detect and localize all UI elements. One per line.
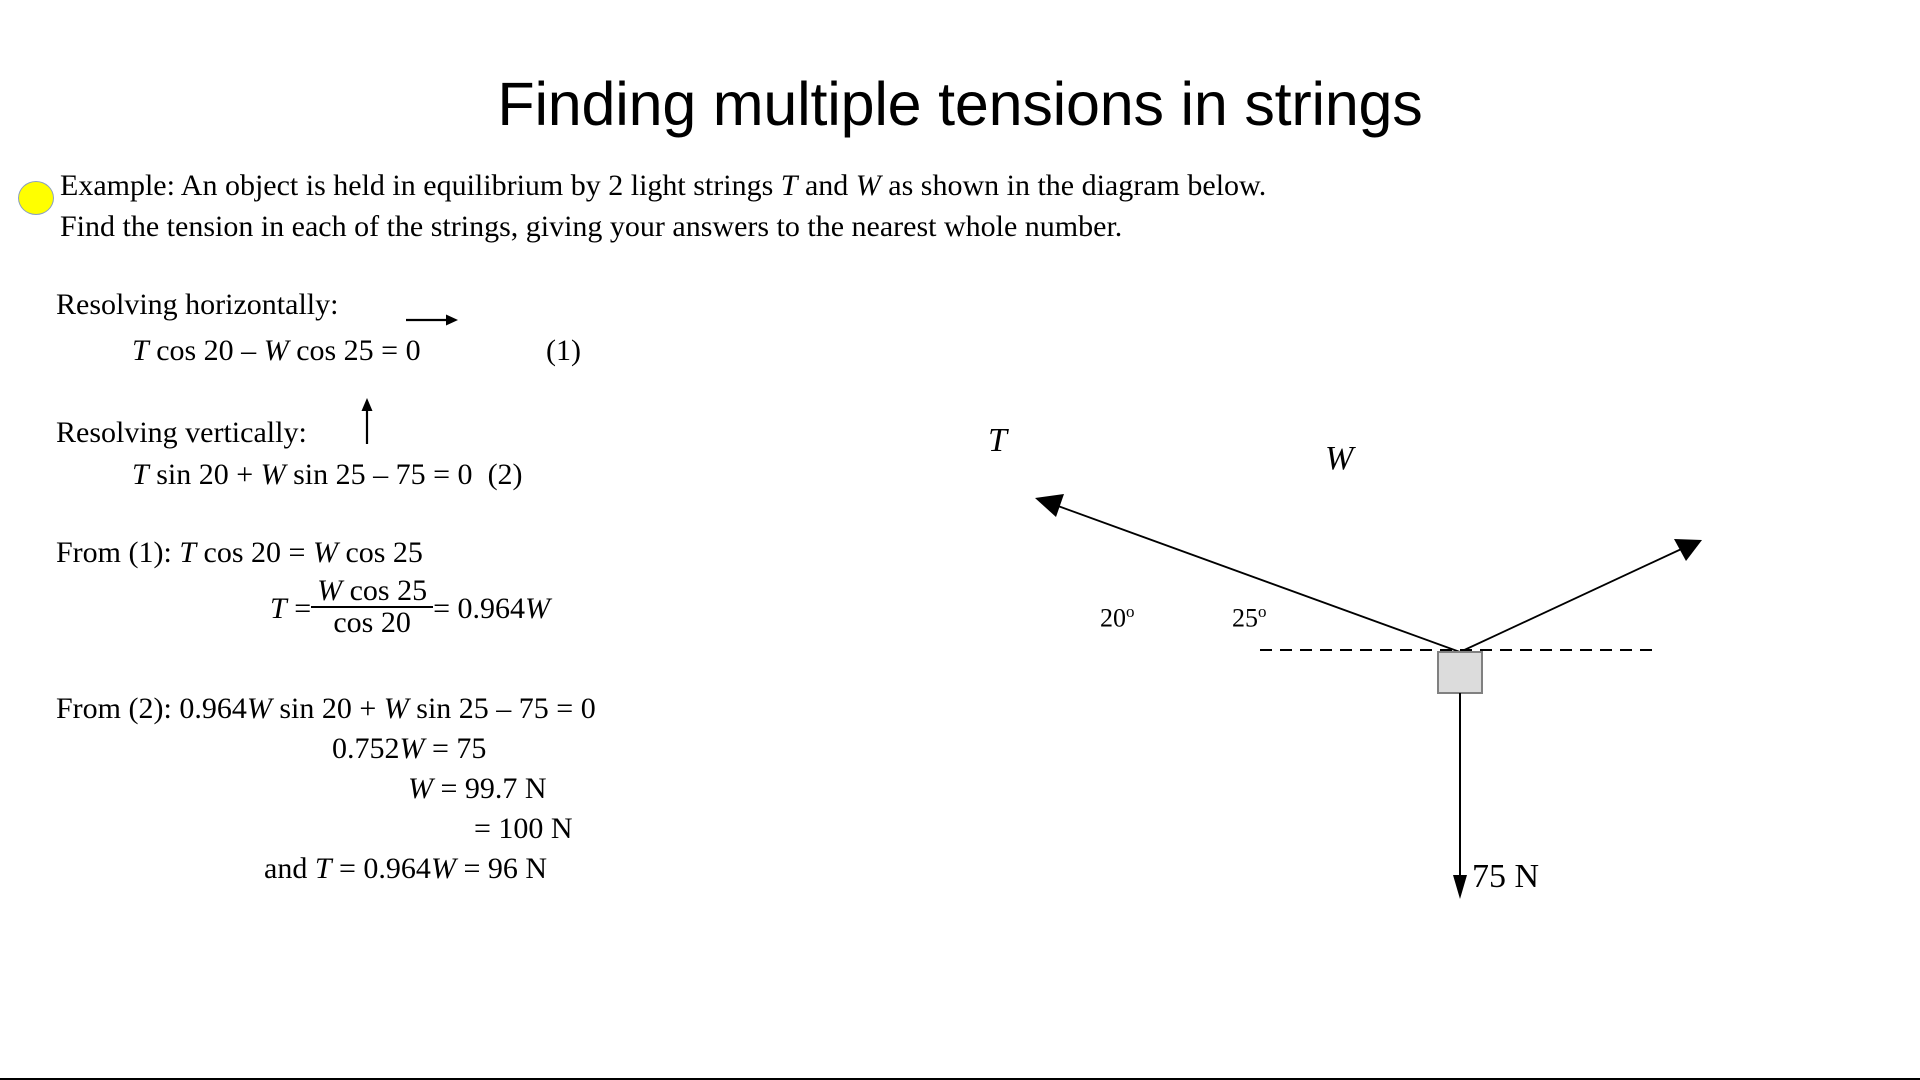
yellow-circle-bullet-icon: [18, 181, 54, 215]
from2-var-W1: W: [247, 692, 272, 725]
diagram-label-W: W: [1325, 440, 1353, 478]
bullet-text-part-3: as shown in the diagram below.: [881, 169, 1266, 202]
bullet-paragraph-text: Example: An object is held in equilibriu…: [60, 166, 1860, 248]
step4-var-T: T: [315, 852, 332, 885]
tension-T-arrowhead: [1035, 494, 1064, 517]
equation-2: T sin 20 + W sin 25 – 75 = 0 (2): [132, 460, 523, 490]
angle-label-left: 20o: [1100, 602, 1135, 634]
diagram-label-T: T: [988, 422, 1007, 460]
from1-end: cos 25: [338, 536, 423, 569]
from-equation-2-line: From (2): 0.964W sin 20 + W sin 25 – 75 …: [56, 694, 596, 724]
fraction-lhs: T =: [270, 594, 311, 624]
tension-W-line: [1460, 545, 1690, 652]
eq1-var-W: W: [264, 334, 289, 367]
from2-mid: sin 20 +: [272, 692, 384, 725]
tension-fraction-line: T = W cos 25cos 20 = 0.964W: [270, 576, 550, 638]
from2-prefix: From (2): 0.964: [56, 692, 247, 725]
eq1-end: cos 25 = 0: [289, 334, 421, 367]
fraction-numerator: W cos 25: [311, 576, 433, 606]
bullet-text-part-2: and: [797, 169, 855, 202]
degree-symbol-left: o: [1126, 602, 1135, 621]
resolving-horizontally-label: Resolving horizontally:: [56, 290, 338, 320]
frac-num-rest: cos 25: [342, 574, 427, 607]
right-arrow-icon: [406, 304, 458, 320]
solve-step-4: and T = 0.964W = 96 N: [264, 854, 547, 884]
from1-var-W: W: [313, 536, 338, 569]
fraction-denominator: cos 20: [311, 606, 433, 638]
object-block: [1438, 652, 1482, 693]
slide-canvas: Finding multiple tensions in strings Exa…: [0, 0, 1920, 1080]
from2-var-W2: W: [384, 692, 409, 725]
weight-force-arrowhead: [1453, 875, 1467, 899]
frac-num-var-W: W: [317, 574, 342, 607]
step2-var-W: W: [408, 772, 433, 805]
from2-end: sin 25 – 75 = 0: [409, 692, 596, 725]
step4-var-W: W: [431, 852, 456, 885]
degree-symbol-right: o: [1258, 602, 1267, 621]
eq2-mid: sin 20 +: [149, 458, 261, 491]
eq2-var-T: T: [132, 458, 149, 491]
bullet-text-line-2: Find the tension in each of the strings,…: [60, 210, 1122, 243]
eq2-var-W: W: [261, 458, 286, 491]
page-title: Finding multiple tensions in strings: [0, 72, 1920, 137]
from1-mid: cos 20 =: [196, 536, 313, 569]
step4-prefix: and: [264, 852, 315, 885]
solve-step-1: 0.752W = 75: [332, 734, 486, 764]
fraction: W cos 25cos 20: [311, 576, 433, 638]
solve-step-2: W = 99.7 N: [408, 774, 547, 804]
bullet-var-T: T: [781, 169, 798, 202]
frac-lhs-var-T: T: [270, 592, 287, 625]
frac-rhs-var-W: W: [525, 592, 550, 625]
eq1-mid: cos 20 –: [149, 334, 264, 367]
step4-end: = 96 N: [456, 852, 547, 885]
angle-label-right: 25o: [1232, 602, 1267, 634]
equation-1-number: (1): [546, 336, 581, 366]
frac-lhs-equals: =: [287, 592, 311, 625]
equation-2-number: (2): [488, 458, 523, 491]
frac-rhs-equals: = 0.964: [433, 592, 525, 625]
bullet-text-part-1: Example: An object is held in equilibriu…: [60, 169, 781, 202]
from-equation-1-line: From (1): T cos 20 = W cos 25: [56, 538, 423, 568]
step4-mid: = 0.964: [332, 852, 431, 885]
eq2-end: sin 25 – 75 = 0: [286, 458, 473, 491]
angle-left-value: 20: [1100, 604, 1126, 633]
bullet-var-W: W: [856, 169, 881, 202]
free-body-force-diagram: T W 20o 25o 75 N: [960, 380, 1760, 940]
step1-var-W: W: [400, 732, 425, 765]
step1-rhs: = 75: [425, 732, 487, 765]
weight-label: 75 N: [1472, 858, 1539, 896]
fraction-rhs: = 0.964W: [433, 594, 550, 624]
solve-step-3: = 100 N: [474, 814, 573, 844]
angle-right-value: 25: [1232, 604, 1258, 633]
resolving-vertically-label: Resolving vertically:: [56, 418, 307, 448]
from1-var-T: T: [179, 536, 196, 569]
up-arrow-icon: [359, 398, 375, 444]
equation-1: T cos 20 – W cos 25 = 0: [132, 336, 421, 366]
from1-prefix: From (1):: [56, 536, 179, 569]
eq1-var-T: T: [132, 334, 149, 367]
step2-rhs: = 99.7 N: [433, 772, 547, 805]
step1-coef: 0.752: [332, 732, 400, 765]
